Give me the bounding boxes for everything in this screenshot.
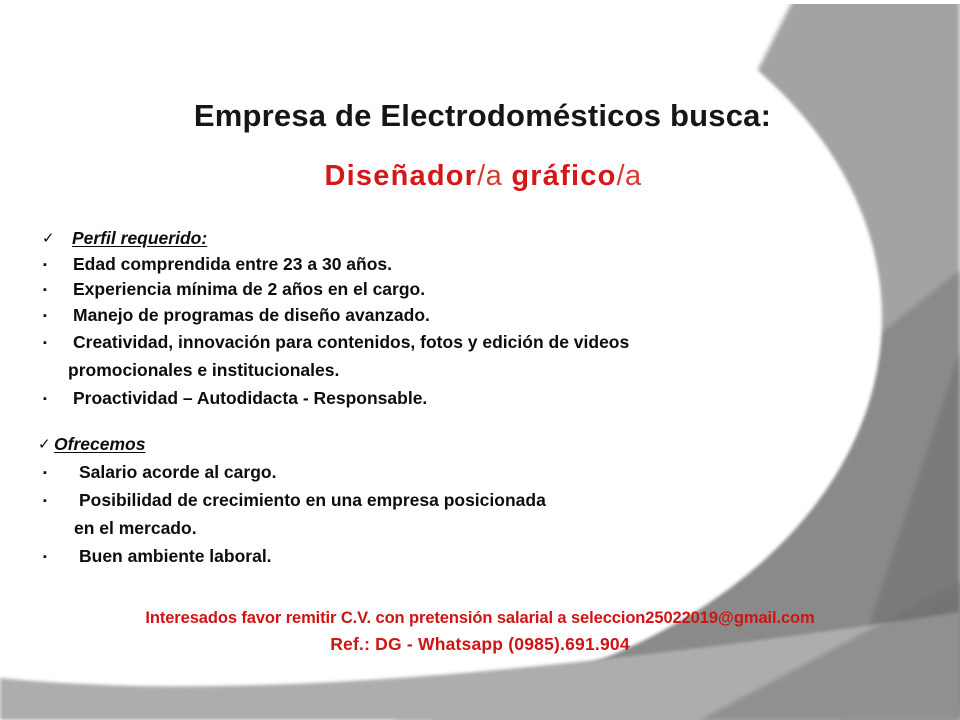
list-item-continuation: en el mercado. bbox=[38, 514, 546, 542]
list-item-label: Posibilidad de crecimiento en una empres… bbox=[79, 486, 546, 514]
list-item: ▪ Proactividad – Autodidacta - Responsab… bbox=[38, 384, 629, 412]
square-bullet-icon: ▪ bbox=[38, 487, 79, 515]
contact-line-email: Interesados favor remitir C.V. con prete… bbox=[0, 609, 960, 628]
list-item-label: Salario acorde al cargo. bbox=[79, 458, 276, 486]
offer-heading-row: ✓ Ofrecemos bbox=[38, 432, 546, 458]
subtitle-part-2: gráfico bbox=[502, 160, 616, 192]
subtitle-slash-2: /a bbox=[616, 160, 641, 192]
list-item: ▪ Manejo de programas de diseño avanzado… bbox=[38, 303, 629, 329]
requirements-block: ✓ Perfil requerido: ▪ Edad comprendida e… bbox=[38, 226, 629, 412]
list-item: ▪ Creatividad, innovación para contenido… bbox=[38, 328, 629, 356]
list-item: ▪ Buen ambiente laboral. bbox=[38, 542, 546, 570]
list-item-label: Edad comprendida entre 23 a 30 años. bbox=[73, 252, 392, 278]
square-bullet-icon: ▪ bbox=[38, 385, 73, 413]
square-bullet-icon: ▪ bbox=[38, 329, 73, 357]
list-item: ▪ Posibilidad de crecimiento en una empr… bbox=[38, 486, 546, 514]
square-bullet-icon: ▪ bbox=[38, 304, 73, 330]
square-bullet-icon: ▪ bbox=[38, 253, 73, 279]
checkmark-icon: ✓ bbox=[38, 226, 72, 252]
requirements-heading-row: ✓ Perfil requerido: bbox=[38, 226, 629, 252]
checkmark-icon: ✓ bbox=[38, 432, 54, 458]
square-bullet-icon: ▪ bbox=[38, 278, 73, 304]
list-item: ▪ Edad comprendida entre 23 a 30 años. bbox=[38, 252, 629, 278]
list-item: ▪ Salario acorde al cargo. bbox=[38, 458, 546, 486]
list-item-label: Buen ambiente laboral. bbox=[79, 542, 272, 570]
list-item: ▪ Experiencia mínima de 2 años en el car… bbox=[38, 277, 629, 303]
offer-heading: Ofrecemos bbox=[54, 432, 145, 458]
square-bullet-icon: ▪ bbox=[38, 459, 79, 487]
slide-canvas: Empresa de Electrodomésticos busca: Dise… bbox=[0, 0, 960, 720]
job-position-subtitle: Diseñador/a gráfico/a bbox=[0, 160, 960, 193]
slide-content: Empresa de Electrodomésticos busca: Dise… bbox=[0, 0, 960, 720]
list-item-label: Creatividad, innovación para contenidos,… bbox=[73, 328, 629, 356]
page-title: Empresa de Electrodomésticos busca: bbox=[0, 98, 960, 134]
list-item-label: Experiencia mínima de 2 años en el cargo… bbox=[73, 277, 425, 303]
subtitle-slash-1: /a bbox=[477, 160, 502, 192]
contact-line-reference: Ref.: DG - Whatsapp (0985).691.904 bbox=[0, 634, 960, 655]
subtitle-part-1: Diseñador bbox=[325, 160, 478, 192]
list-item-continuation: promocionales e institucionales. bbox=[38, 356, 629, 384]
list-item-label: Proactividad – Autodidacta - Responsable… bbox=[73, 384, 427, 412]
requirements-heading: Perfil requerido: bbox=[72, 226, 207, 252]
offer-block: ✓ Ofrecemos ▪ Salario acorde al cargo. ▪… bbox=[38, 432, 546, 570]
list-item-label: Manejo de programas de diseño avanzado. bbox=[73, 303, 430, 329]
square-bullet-icon: ▪ bbox=[38, 543, 79, 571]
